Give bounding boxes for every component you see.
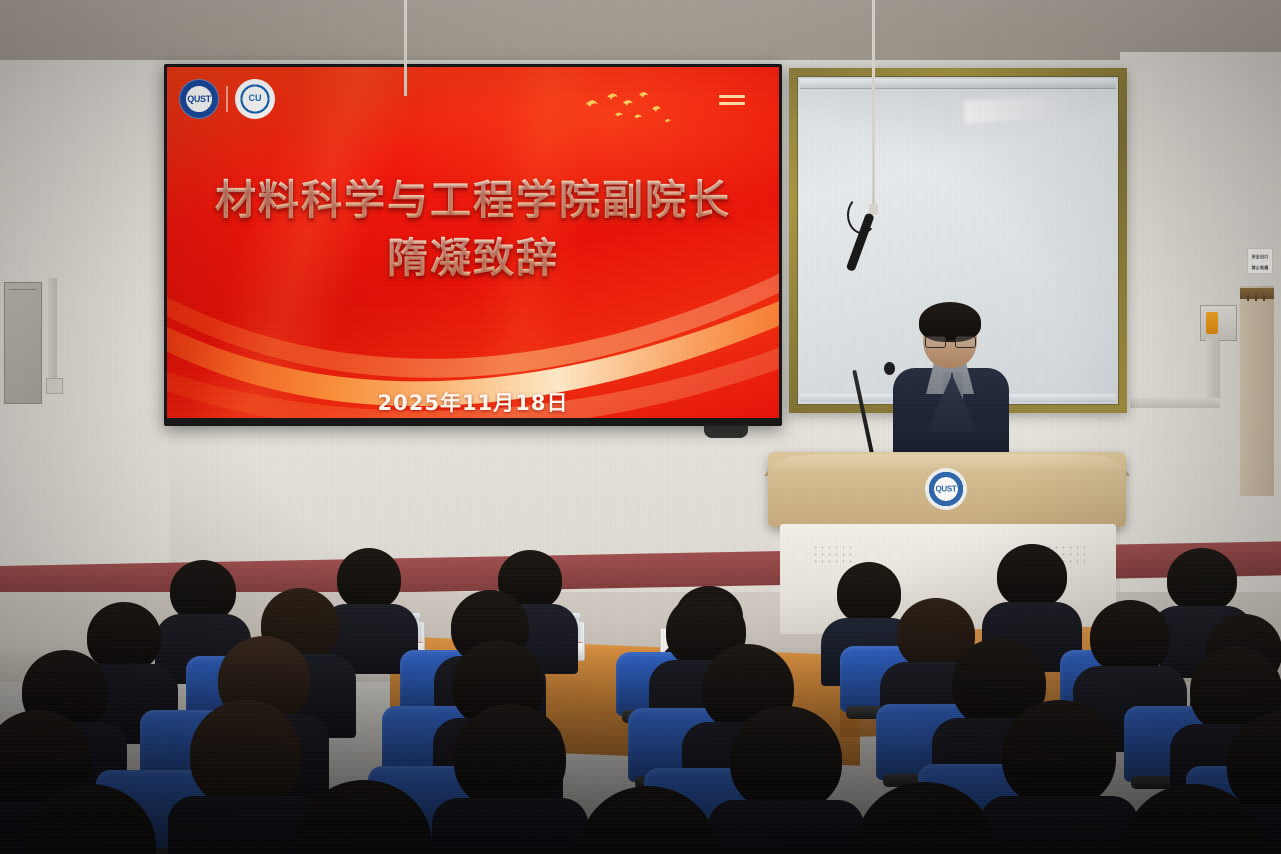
wall-wood-strip xyxy=(1240,286,1274,496)
screen-title: 材料科学与工程学院副院长 隋凝致辞 xyxy=(167,171,779,287)
audience-person xyxy=(842,782,1008,854)
double-dash-icon xyxy=(719,95,745,109)
screen-title-line-1: 材料科学与工程学院副院长 xyxy=(167,171,779,229)
podium-qust-emblem-icon xyxy=(925,468,967,510)
hook-bar-icon xyxy=(1240,288,1274,299)
wall-sign-line-2: 禁止吸烟 xyxy=(1248,265,1272,271)
speaker-figure xyxy=(893,306,1009,476)
whiteboard-top-rail xyxy=(800,79,1116,89)
logo-divider xyxy=(226,86,228,112)
audience-person xyxy=(988,700,1130,854)
wall-sign-line-1: 安全出口 xyxy=(1248,254,1272,260)
audience-person xyxy=(566,786,730,854)
audience-person xyxy=(988,544,1076,644)
lecture-hall-photo: 安全出口 禁止吸烟 xyxy=(0,0,1281,854)
audience-area xyxy=(0,540,1281,854)
audience-person xyxy=(1110,784,1276,854)
cu-logo-icon xyxy=(235,79,275,119)
hanging-mic-cable-center xyxy=(872,0,875,208)
glasses-icon xyxy=(925,336,976,346)
wall-conduit-right xyxy=(1206,338,1220,398)
switch-box-icon xyxy=(1200,305,1237,341)
screen-date: 2025年11月18日 xyxy=(167,387,779,417)
podium-mic-head-icon xyxy=(884,362,895,375)
wall-conduit-left xyxy=(48,278,57,394)
led-display-screen[interactable]: 材料科学与工程学院副院长 隋凝致辞 2025年11月18日 xyxy=(164,64,782,426)
screen-stand xyxy=(704,424,748,438)
screen-logo-group xyxy=(179,79,275,119)
qust-logo-icon xyxy=(179,79,219,119)
conduit-junction-box xyxy=(46,378,63,394)
audience-person xyxy=(440,704,580,854)
screen-title-line-2: 隋凝致辞 xyxy=(167,229,779,287)
audience-person xyxy=(282,780,446,854)
electrical-panel-icon xyxy=(4,282,42,404)
hanging-mic-cable-left xyxy=(404,0,407,96)
gold-birds-icon xyxy=(577,91,687,133)
screen-surface: 材料科学与工程学院副院长 隋凝致辞 2025年11月18日 xyxy=(167,67,779,418)
wall-sign: 安全出口 禁止吸烟 xyxy=(1247,248,1273,274)
audience-person xyxy=(716,706,856,854)
amber-indicator-icon xyxy=(1206,312,1218,334)
wall-conduit-horizontal xyxy=(1130,398,1220,408)
audience-person xyxy=(10,784,170,854)
whiteboard-glare xyxy=(964,93,1074,123)
